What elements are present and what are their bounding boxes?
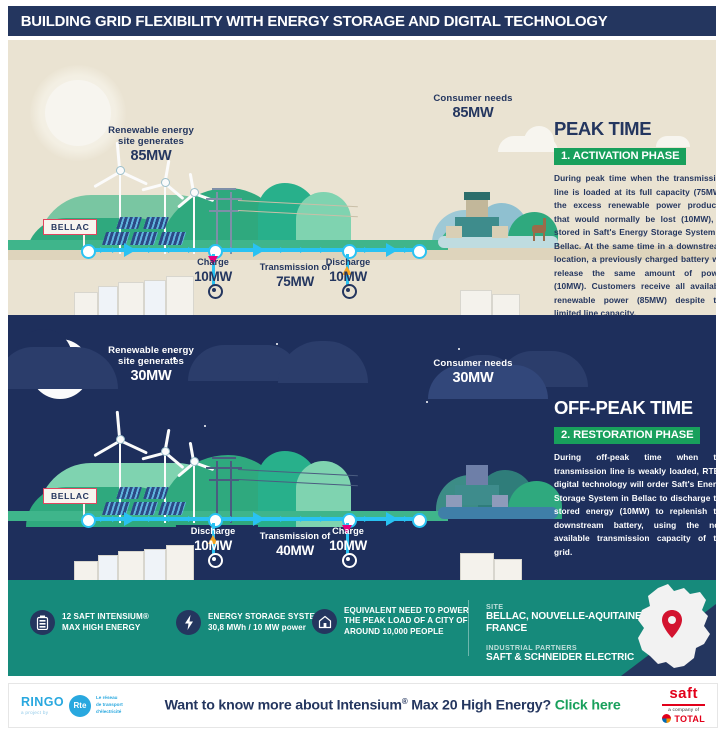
- consumer-needs-label: Consumer needs 30MW: [408, 358, 538, 387]
- discharge-caption: Discharge: [163, 526, 263, 537]
- saft-subtitle: a company of: [662, 708, 705, 713]
- offpeak-panel-title: OFF-PEAK TIME: [554, 397, 716, 419]
- renewable-label-line2: site generates: [86, 136, 216, 147]
- renewable-value: 85MW: [86, 148, 216, 165]
- facts-divider: [468, 600, 469, 656]
- flow-tick-icon: [404, 247, 409, 253]
- battery-container: [460, 290, 492, 315]
- battery-container: [144, 549, 166, 580]
- site-value-line1: BELLAC, NOUVELLE-AQUITAINE: [486, 611, 642, 623]
- discharge-label: Discharge 10MW: [298, 257, 398, 284]
- village-illustration: [446, 226, 462, 238]
- flow-tick-icon: [280, 247, 285, 253]
- transmission-pylon-icon: [230, 192, 232, 254]
- france-map-icon: [628, 582, 716, 676]
- deer-icon: [543, 218, 546, 228]
- offpeak-phase-badge: 2. RESTORATION PHASE: [554, 427, 700, 445]
- transmission-pylon-icon: [209, 479, 239, 481]
- discharge-label: Discharge 10MW: [163, 526, 263, 553]
- solar-panel-icon: [158, 502, 186, 515]
- flow-tick-icon: [280, 516, 285, 522]
- renewable-label-line1: Renewable energy: [86, 345, 216, 356]
- charge-value: 10MW: [298, 538, 398, 554]
- offpeak-panel-body: During off-peak time when the transmissi…: [554, 451, 716, 559]
- charge-label: Charge 10MW: [163, 257, 263, 284]
- partners-caption: INDUSTRIAL PARTNERS: [486, 643, 634, 652]
- page-title: BUILDING GRID FLEXIBILITY WITH ENERGY ST…: [8, 13, 607, 30]
- discharge-endpoint-node: [208, 553, 223, 568]
- total-globe-icon: [662, 714, 671, 723]
- flow-tick-icon: [168, 247, 173, 253]
- peak-time-text-panel: PEAK TIME 1. ACTIVATION PHASE During pea…: [554, 118, 716, 315]
- house-icon: [312, 609, 337, 634]
- battery-icon: [30, 610, 55, 635]
- turbine-hub: [161, 447, 170, 456]
- cta-link[interactable]: Click here: [555, 698, 621, 714]
- battery-container: [74, 292, 98, 315]
- solar-panel-icon: [116, 217, 142, 229]
- turbine-hub: [161, 178, 170, 187]
- discharge-value: 10MW: [298, 269, 398, 285]
- charge-caption: Charge: [163, 257, 263, 268]
- page-footer: RINGO a project by Rte Le réseau de tran…: [8, 683, 718, 728]
- lightning-icon: [176, 610, 201, 635]
- flow-tick-icon: [100, 247, 105, 253]
- turbine-hub: [116, 435, 125, 444]
- flow-tick-icon: [100, 516, 105, 522]
- flow-arrow-icon: [124, 512, 136, 526]
- charge-value: 10MW: [163, 269, 263, 285]
- bellac-location-tag: BELLAC: [43, 219, 97, 235]
- fact-item-battery: 12 SAFT INTENSIUM® MAX HIGH ENERGY: [30, 610, 190, 635]
- consumer-value: 85MW: [408, 105, 538, 122]
- fact-item-city: EQUIVALENT NEED TO POWER THE PEAK LOAD O…: [312, 606, 502, 637]
- battery-container: [98, 555, 118, 580]
- site-value-line2: FRANCE: [486, 623, 642, 635]
- discharge-caption: Discharge: [298, 257, 398, 268]
- saft-total-logo[interactable]: saft a company of TOTAL: [662, 687, 717, 723]
- turbine-hub: [116, 166, 125, 175]
- flow-tick-icon: [188, 247, 193, 253]
- rte-tagline: Le réseau de transport d'électricité: [96, 695, 123, 716]
- hill-shape: [278, 341, 368, 383]
- flow-arrow-icon: [386, 512, 398, 526]
- solar-panel-icon: [143, 217, 169, 229]
- flow-tick-icon: [320, 247, 325, 253]
- battery-container: [460, 553, 494, 580]
- transmission-pylon-icon: [206, 198, 242, 200]
- partners-info-block: INDUSTRIAL PARTNERS SAFT & SCHNEIDER ELE…: [486, 643, 634, 664]
- transmission-pylon-icon: [206, 467, 242, 469]
- rte-logo-icon: Rte: [69, 695, 91, 717]
- battery-container: [144, 280, 166, 315]
- renewable-label-line2: site generates: [86, 356, 216, 367]
- cta-text: Want to know more about Intensium: [165, 698, 402, 714]
- deer-icon: [543, 232, 545, 241]
- village-illustration: [446, 495, 462, 507]
- flow-tick-icon: [404, 516, 409, 522]
- site-caption: SITE: [486, 602, 642, 611]
- cta-text-2: Max 20 High Energy?: [408, 698, 555, 714]
- line-node: [81, 513, 96, 528]
- renewable-generation-label: Renewable energy site generates 30MW: [86, 345, 216, 385]
- transmission-pylon-icon: [212, 188, 236, 190]
- flow-tick-icon: [230, 247, 235, 253]
- charge-endpoint-node: [208, 284, 223, 299]
- consumer-value: 30MW: [408, 370, 538, 387]
- fact-battery-text: 12 SAFT INTENSIUM® MAX HIGH ENERGY: [62, 612, 149, 633]
- off-peak-time-scene: BELLAC: [8, 315, 716, 580]
- flow-tick-icon: [364, 247, 369, 253]
- star-icon: [426, 401, 428, 403]
- fact-storage-text: ENERGY STORAGE SYSTEM 30,8 MWh / 10 MW p…: [208, 612, 322, 633]
- flow-tick-icon: [148, 247, 153, 253]
- star-icon: [276, 343, 278, 345]
- flow-tick-icon: [112, 516, 117, 522]
- saft-name: saft: [662, 687, 705, 701]
- consumer-label: Consumer needs: [408, 93, 538, 104]
- battery-container: [492, 294, 520, 315]
- battery-container: [98, 286, 118, 315]
- village-illustration: [464, 192, 490, 200]
- rte-name: Rte: [74, 701, 87, 710]
- line-node: [81, 244, 96, 259]
- ringo-subtitle: a project by: [21, 710, 64, 715]
- peak-phase-badge: 1. ACTIVATION PHASE: [554, 148, 686, 166]
- cta-banner[interactable]: Want to know more about Intensium® Max 2…: [123, 697, 663, 714]
- flow-tick-icon: [230, 516, 235, 522]
- total-name: TOTAL: [674, 714, 705, 724]
- peak-panel-title: PEAK TIME: [554, 118, 716, 140]
- star-icon: [204, 425, 206, 427]
- solar-panel-icon: [143, 487, 169, 499]
- battery-container: [118, 551, 144, 580]
- discharge-value: 10MW: [163, 538, 263, 554]
- flow-tick-icon: [168, 516, 173, 522]
- cloud-icon: [524, 126, 554, 152]
- site-info-block: SITE BELLAC, NOUVELLE-AQUITAINE FRANCE: [486, 602, 642, 635]
- peak-time-scene: BELLAC: [8, 40, 716, 315]
- village-illustration: [492, 495, 508, 507]
- deer-icon: [533, 232, 535, 241]
- renewable-generation-label: Renewable energy site generates 85MW: [86, 125, 216, 165]
- star-icon: [458, 348, 460, 350]
- flow-tick-icon: [364, 516, 369, 522]
- water-band: [438, 507, 558, 519]
- flow-tick-icon: [112, 247, 117, 253]
- battery-container: [118, 282, 144, 315]
- saft-rule: [662, 704, 705, 706]
- flow-tick-icon: [148, 516, 153, 522]
- ringo-name: RINGO: [21, 696, 64, 709]
- fact-line-1: 12 SAFT INTENSIUM®: [62, 612, 149, 622]
- key-facts-bar: 12 SAFT INTENSIUM® MAX HIGH ENERGY ENERG…: [8, 580, 716, 676]
- battery-container: [74, 561, 98, 580]
- consumer-label: Consumer needs: [408, 358, 538, 369]
- fact-line-2: 30,8 MWh / 10 MW power: [208, 623, 322, 633]
- flow-tick-icon: [320, 516, 325, 522]
- solar-panel-icon: [116, 487, 142, 499]
- wind-turbine-icon: [193, 459, 195, 523]
- page-header: BUILDING GRID FLEXIBILITY WITH ENERGY ST…: [8, 6, 716, 36]
- charge-endpoint-core: [212, 288, 216, 292]
- charge-label: Charge 10MW: [298, 526, 398, 553]
- flow-tick-icon: [188, 516, 193, 522]
- rte-tagline-line1: Le réseau: [96, 695, 123, 702]
- flow-arrow-icon: [253, 512, 265, 526]
- off-peak-time-text-panel: OFF-PEAK TIME 2. RESTORATION PHASE Durin…: [554, 397, 716, 559]
- transmission-pylon-icon: [230, 461, 232, 523]
- fact-line-2: THE PEAK LOAD OF A CITY OF: [344, 616, 469, 626]
- renewable-label-line1: Renewable energy: [86, 125, 216, 136]
- renewable-value: 30MW: [86, 368, 216, 385]
- consumer-needs-label: Consumer needs 85MW: [408, 93, 538, 122]
- charge-caption: Charge: [298, 526, 398, 537]
- bellac-label: BELLAC: [51, 491, 89, 501]
- flow-arrow-icon: [124, 243, 136, 257]
- village-illustration: [492, 226, 508, 238]
- wind-turbine-icon: [193, 190, 195, 254]
- turbine-hub: [190, 188, 199, 197]
- transmission-pylon-icon: [212, 457, 236, 459]
- infographic-page: BUILDING GRID FLEXIBILITY WITH ENERGY ST…: [0, 0, 724, 732]
- fact-line-2: MAX HIGH ENERGY: [62, 623, 149, 633]
- partners-value: SAFT & SCHNEIDER ELECTRIC: [486, 652, 634, 664]
- fact-line-1: EQUIVALENT NEED TO POWER: [344, 606, 469, 616]
- solar-panel-icon: [158, 232, 186, 245]
- discharge-endpoint-core: [212, 557, 216, 561]
- line-node-end: [412, 513, 427, 528]
- bellac-location-tag: BELLAC: [43, 488, 97, 504]
- rte-tagline-line3: d'électricité: [96, 709, 123, 716]
- turbine-hub: [190, 457, 199, 466]
- transmission-pylon-icon: [209, 210, 239, 212]
- total-logo: TOTAL: [662, 714, 705, 724]
- fact-line-1: ENERGY STORAGE SYSTEM: [208, 612, 322, 622]
- peak-panel-body: During peak time when the transmission l…: [554, 172, 716, 315]
- flow-arrow-icon: [386, 243, 398, 257]
- flow-arrow-icon: [253, 243, 265, 257]
- fact-line-3: AROUND 10,000 PEOPLE: [344, 627, 469, 637]
- battery-container: [494, 559, 522, 580]
- line-node-end: [412, 244, 427, 259]
- flow-tick-icon: [300, 516, 305, 522]
- rte-tagline-line2: de transport: [96, 702, 123, 709]
- ringo-logo[interactable]: RINGO a project by Rte Le réseau de tran…: [9, 695, 123, 717]
- bellac-label: BELLAC: [51, 222, 89, 232]
- flow-tick-icon: [300, 247, 305, 253]
- fact-city-text: EQUIVALENT NEED TO POWER THE PEAK LOAD O…: [344, 606, 469, 637]
